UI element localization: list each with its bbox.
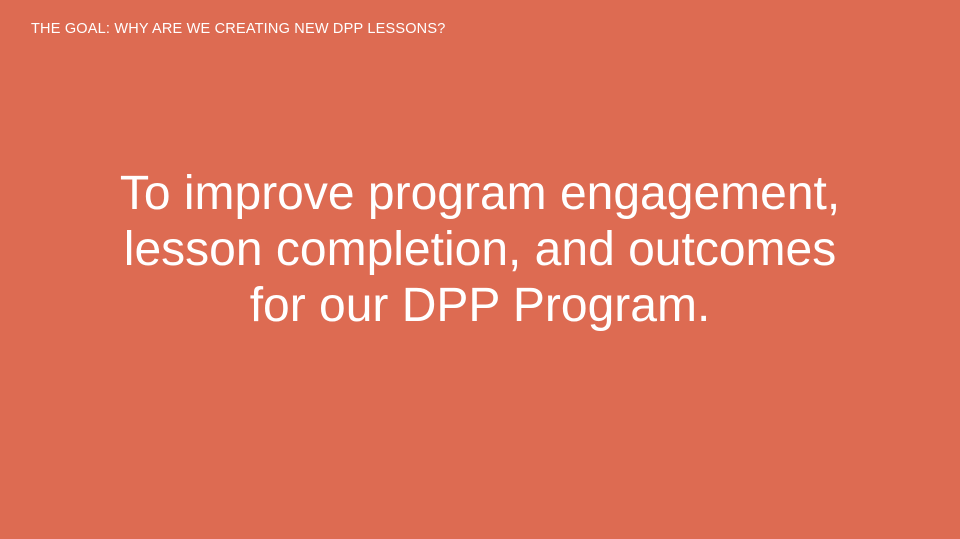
- slide-body: To improve program engagement, lesson co…: [110, 166, 850, 334]
- body-line-3: for our DPP Program.: [110, 278, 850, 334]
- slide: THE GOAL: WHY ARE WE CREATING NEW DPP LE…: [0, 0, 960, 539]
- body-line-2: lesson completion, and outcomes: [110, 222, 850, 278]
- slide-title: THE GOAL: WHY ARE WE CREATING NEW DPP LE…: [31, 20, 911, 38]
- body-line-1: To improve program engagement,: [110, 166, 850, 222]
- slide-body-container: To improve program engagement, lesson co…: [0, 166, 960, 334]
